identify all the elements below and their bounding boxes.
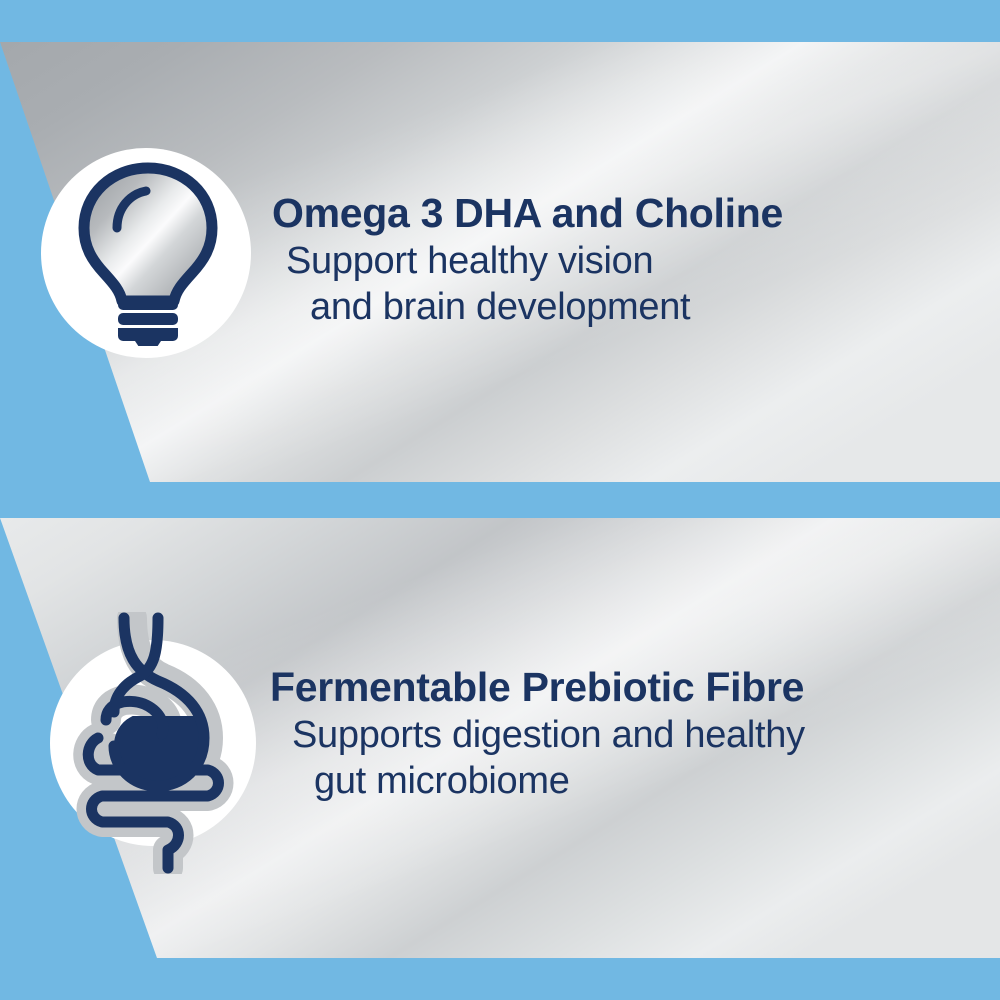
benefit-description-line-2: gut microbiome: [270, 758, 950, 804]
lightbulb-icon: [60, 160, 236, 346]
benefit-text-prebiotic-fibre: Fermentable Prebiotic Fibre Supports dig…: [270, 662, 950, 804]
infographic-canvas: Omega 3 DHA and Choline Support healthy …: [0, 0, 1000, 1000]
benefit-description-line-2: and brain development: [272, 284, 932, 330]
benefit-description: Support healthy vision and brain develop…: [272, 238, 932, 330]
benefit-description-line-1: Support healthy vision: [272, 238, 932, 284]
benefit-description-line-1: Supports digestion and healthy: [270, 712, 950, 758]
benefit-text-omega-3: Omega 3 DHA and Choline Support healthy …: [272, 188, 932, 330]
stomach-intestine-icon: [58, 612, 258, 874]
benefit-description: Supports digestion and healthy gut micro…: [270, 712, 950, 804]
benefit-title: Fermentable Prebiotic Fibre: [270, 662, 950, 712]
benefit-title: Omega 3 DHA and Choline: [272, 188, 932, 238]
